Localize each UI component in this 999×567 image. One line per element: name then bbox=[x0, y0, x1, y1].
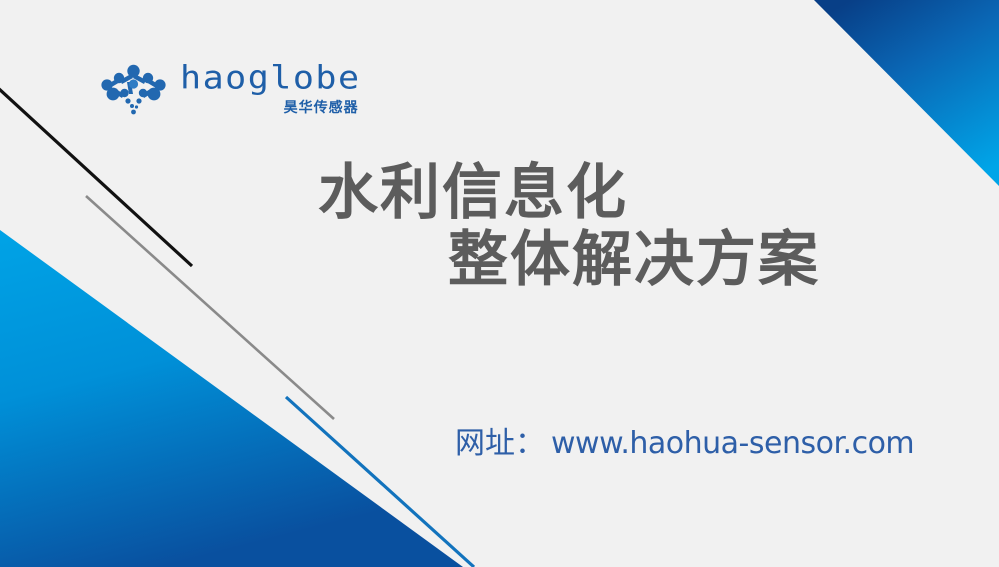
haoglobe-network-dots-logo bbox=[98, 62, 170, 118]
page-title: 水利信息化 整体解决方案 bbox=[0, 160, 999, 294]
logo-chinese-name: 昊华传感器 bbox=[284, 101, 359, 115]
logo-text-group: haoglobe 昊华传感器 bbox=[180, 58, 361, 115]
website-url[interactable]: 网址： www.haohua-sensor.com bbox=[455, 418, 914, 462]
title-line-2: 整体解决方案 bbox=[448, 227, 999, 294]
slide-canvas: haoglobe 昊华传感器 水利信息化 整体解决方案 网址： www.haoh… bbox=[0, 0, 999, 567]
title-line-1: 水利信息化 bbox=[318, 160, 999, 227]
url-value[interactable]: www.haohua-sensor.com bbox=[551, 426, 914, 461]
top-right-blue-gradient-triangle bbox=[814, 0, 999, 186]
url-label: 网址： bbox=[455, 418, 545, 462]
logo-wordmark: haoglobe bbox=[180, 63, 361, 95]
brand-logo[interactable]: haoglobe 昊华传感器 bbox=[98, 58, 361, 118]
blue-diagonal-line bbox=[286, 397, 474, 567]
